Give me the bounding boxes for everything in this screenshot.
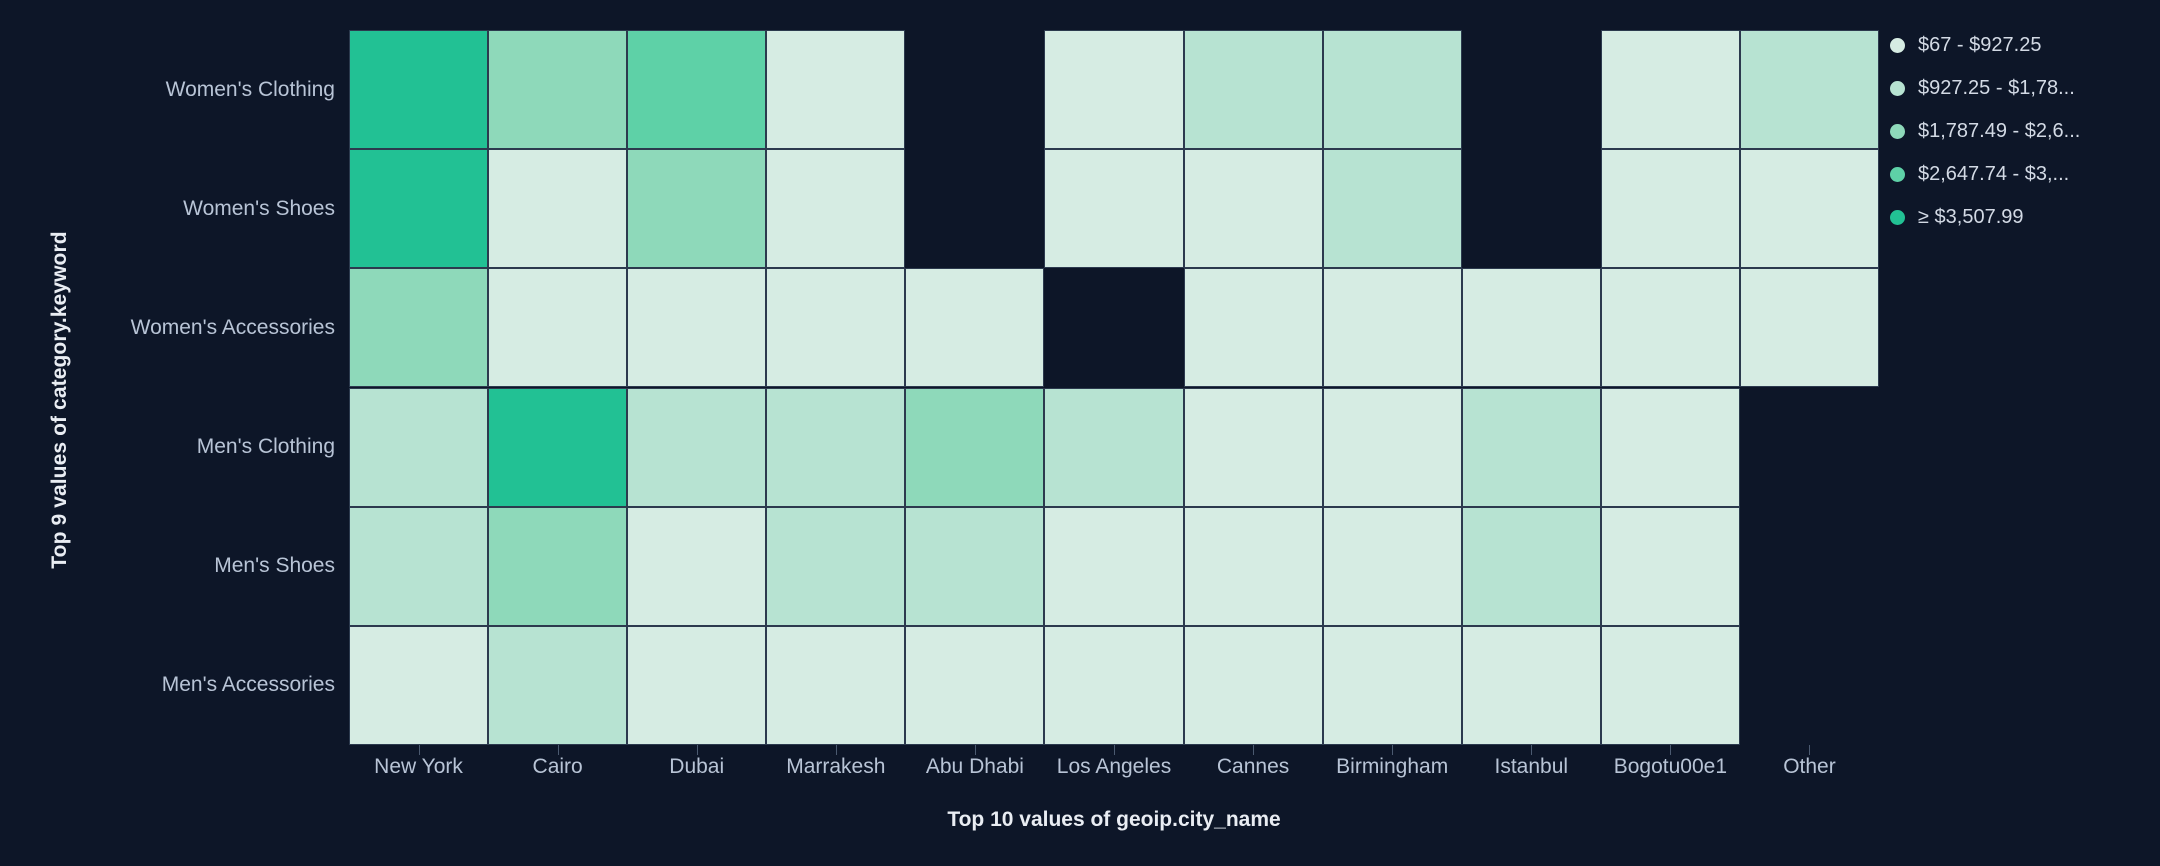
- heatmap-cell[interactable]: [1462, 626, 1601, 745]
- legend-item[interactable]: $67 - $927.25: [1890, 30, 2140, 61]
- heatmap-cell[interactable]: [1601, 30, 1740, 149]
- heatmap-cell[interactable]: [349, 268, 488, 387]
- legend-item-label: $1,787.49 - $2,6...: [1918, 120, 2080, 143]
- heatmap-cell[interactable]: [627, 149, 766, 268]
- heatmap-cell[interactable]: [1601, 268, 1740, 387]
- y-axis-tick-label: Women's Accessories: [60, 316, 335, 340]
- legend-swatch-icon: [1890, 124, 1905, 139]
- heatmap-cell[interactable]: [1184, 30, 1323, 149]
- heatmap-cell[interactable]: [766, 149, 905, 268]
- x-axis-tick-label: Abu Dhabi: [926, 755, 1024, 779]
- heatmap-cell[interactable]: [349, 626, 488, 745]
- legend-item-label: ≥ $3,507.99: [1918, 206, 2024, 229]
- heatmap-cell[interactable]: [1462, 388, 1601, 507]
- x-axis-tick-label: Dubai: [669, 755, 724, 779]
- heatmap-cell[interactable]: [766, 30, 905, 149]
- heatmap-cell[interactable]: [1323, 268, 1462, 387]
- heatmap-cell[interactable]: [1044, 388, 1183, 507]
- heatmap-cell[interactable]: [349, 149, 488, 268]
- heatmap-cell[interactable]: [1323, 388, 1462, 507]
- heatmap-cell[interactable]: [627, 30, 766, 149]
- x-axis-tick-label: Birmingham: [1336, 755, 1448, 779]
- heatmap-cell[interactable]: [905, 388, 1044, 507]
- x-axis-tick-label: Marrakesh: [786, 755, 885, 779]
- heatmap-cell[interactable]: [1601, 626, 1740, 745]
- heatmap-cell[interactable]: [488, 507, 627, 626]
- heatmap-cell[interactable]: [488, 30, 627, 149]
- heatmap-cell[interactable]: [349, 507, 488, 626]
- heatmap-cell[interactable]: [1740, 626, 1879, 745]
- heatmap-cell[interactable]: [349, 30, 488, 149]
- heatmap-cell[interactable]: [349, 388, 488, 507]
- legend-item-label: $927.25 - $1,78...: [1918, 77, 2075, 100]
- heatmap-cell[interactable]: [1462, 149, 1601, 268]
- y-axis-tick-label: Women's Shoes: [60, 197, 335, 221]
- y-axis-tick-label: Men's Shoes: [60, 554, 335, 578]
- heatmap-cell[interactable]: [1184, 149, 1323, 268]
- heatmap-cell[interactable]: [1044, 507, 1183, 626]
- heatmap-cell[interactable]: [905, 626, 1044, 745]
- heatmap-cell[interactable]: [1601, 507, 1740, 626]
- heatmap-cell[interactable]: [627, 507, 766, 626]
- y-axis-tick-label: Women's Clothing: [60, 78, 335, 102]
- legend-swatch-icon: [1890, 167, 1905, 182]
- x-axis-tick-label: New York: [374, 755, 463, 779]
- legend[interactable]: $67 - $927.25$927.25 - $1,78...$1,787.49…: [1890, 30, 2140, 245]
- heatmap-cell[interactable]: [1462, 268, 1601, 387]
- x-axis-tick-label: Istanbul: [1494, 755, 1568, 779]
- heatmap-cell[interactable]: [627, 268, 766, 387]
- heatmap-visualization: Top 9 values of category.keyword Women's…: [0, 0, 2160, 866]
- heatmap-cell[interactable]: [905, 30, 1044, 149]
- x-axis-tick-mark: [975, 745, 976, 755]
- heatmap-cell[interactable]: [1601, 388, 1740, 507]
- x-axis-tick-mark: [1114, 745, 1115, 755]
- heatmap-cell[interactable]: [627, 388, 766, 507]
- heatmap-cell[interactable]: [1601, 149, 1740, 268]
- heatmap-cell[interactable]: [1740, 388, 1879, 507]
- x-axis-title: Top 10 values of geoip.city_name: [349, 808, 1879, 832]
- heatmap-cell[interactable]: [1323, 149, 1462, 268]
- heatmap-cell[interactable]: [766, 268, 905, 387]
- heatmap-grid[interactable]: [349, 30, 1879, 745]
- heatmap-cell[interactable]: [1044, 30, 1183, 149]
- y-axis-tick-label: Men's Clothing: [60, 435, 335, 459]
- x-axis-tick-mark: [1392, 745, 1393, 755]
- heatmap-cell[interactable]: [488, 149, 627, 268]
- legend-item-label: $67 - $927.25: [1918, 34, 2041, 57]
- heatmap-cell[interactable]: [488, 388, 627, 507]
- heatmap-cell[interactable]: [766, 626, 905, 745]
- heatmap-cell[interactable]: [1323, 507, 1462, 626]
- legend-swatch-icon: [1890, 38, 1905, 53]
- legend-item[interactable]: $927.25 - $1,78...: [1890, 73, 2140, 104]
- x-axis-tick-mark: [1809, 745, 1810, 755]
- x-axis-tick-mark: [836, 745, 837, 755]
- legend-item[interactable]: $2,647.74 - $3,...: [1890, 159, 2140, 190]
- legend-item[interactable]: $1,787.49 - $2,6...: [1890, 116, 2140, 147]
- heatmap-cell[interactable]: [905, 507, 1044, 626]
- heatmap-cell[interactable]: [1184, 507, 1323, 626]
- x-axis-tick-mark: [697, 745, 698, 755]
- y-axis-tick-labels: Women's ClothingWomen's ShoesWomen's Acc…: [60, 30, 335, 745]
- heatmap-cell[interactable]: [1740, 30, 1879, 149]
- heatmap-cell[interactable]: [1323, 30, 1462, 149]
- x-axis-tick-label: Cairo: [533, 755, 583, 779]
- heatmap-cell[interactable]: [1184, 626, 1323, 745]
- heatmap-cell[interactable]: [627, 626, 766, 745]
- heatmap-cell[interactable]: [1184, 268, 1323, 387]
- heatmap-cell[interactable]: [488, 626, 627, 745]
- heatmap-cell[interactable]: [766, 388, 905, 507]
- legend-item[interactable]: ≥ $3,507.99: [1890, 202, 2140, 233]
- x-axis-tick-label: Cannes: [1217, 755, 1289, 779]
- x-axis-tick-mark: [1531, 745, 1532, 755]
- x-axis-tick-labels: New YorkCairoDubaiMarrakeshAbu DhabiLos …: [349, 755, 1879, 789]
- heatmap-cell[interactable]: [766, 507, 905, 626]
- heatmap-cell[interactable]: [1044, 149, 1183, 268]
- x-axis-tick-mark: [1253, 745, 1254, 755]
- x-axis-tick-label: Los Angeles: [1057, 755, 1171, 779]
- heatmap-cell[interactable]: [1740, 149, 1879, 268]
- heatmap-cell[interactable]: [1323, 626, 1462, 745]
- heatmap-cell[interactable]: [905, 268, 1044, 387]
- heatmap-cell[interactable]: [1044, 268, 1183, 387]
- heatmap-cell[interactable]: [1462, 30, 1601, 149]
- x-axis-tick-mark: [419, 745, 420, 755]
- x-axis-tick-mark: [558, 745, 559, 755]
- heatmap-cell[interactable]: [1740, 268, 1879, 387]
- x-axis-tick-mark: [1670, 745, 1671, 755]
- heatmap-cell[interactable]: [1462, 507, 1601, 626]
- heatmap-cell[interactable]: [1184, 388, 1323, 507]
- heatmap-cell[interactable]: [488, 268, 627, 387]
- legend-swatch-icon: [1890, 81, 1905, 96]
- heatmap-cell[interactable]: [1044, 626, 1183, 745]
- legend-swatch-icon: [1890, 210, 1905, 225]
- x-axis-tick-label: Other: [1783, 755, 1836, 779]
- y-axis-tick-label: Men's Accessories: [60, 673, 335, 697]
- heatmap-cell[interactable]: [905, 149, 1044, 268]
- legend-item-label: $2,647.74 - $3,...: [1918, 163, 2069, 186]
- x-axis-tick-label: Bogotu00e1: [1614, 755, 1727, 779]
- heatmap-cell[interactable]: [1740, 507, 1879, 626]
